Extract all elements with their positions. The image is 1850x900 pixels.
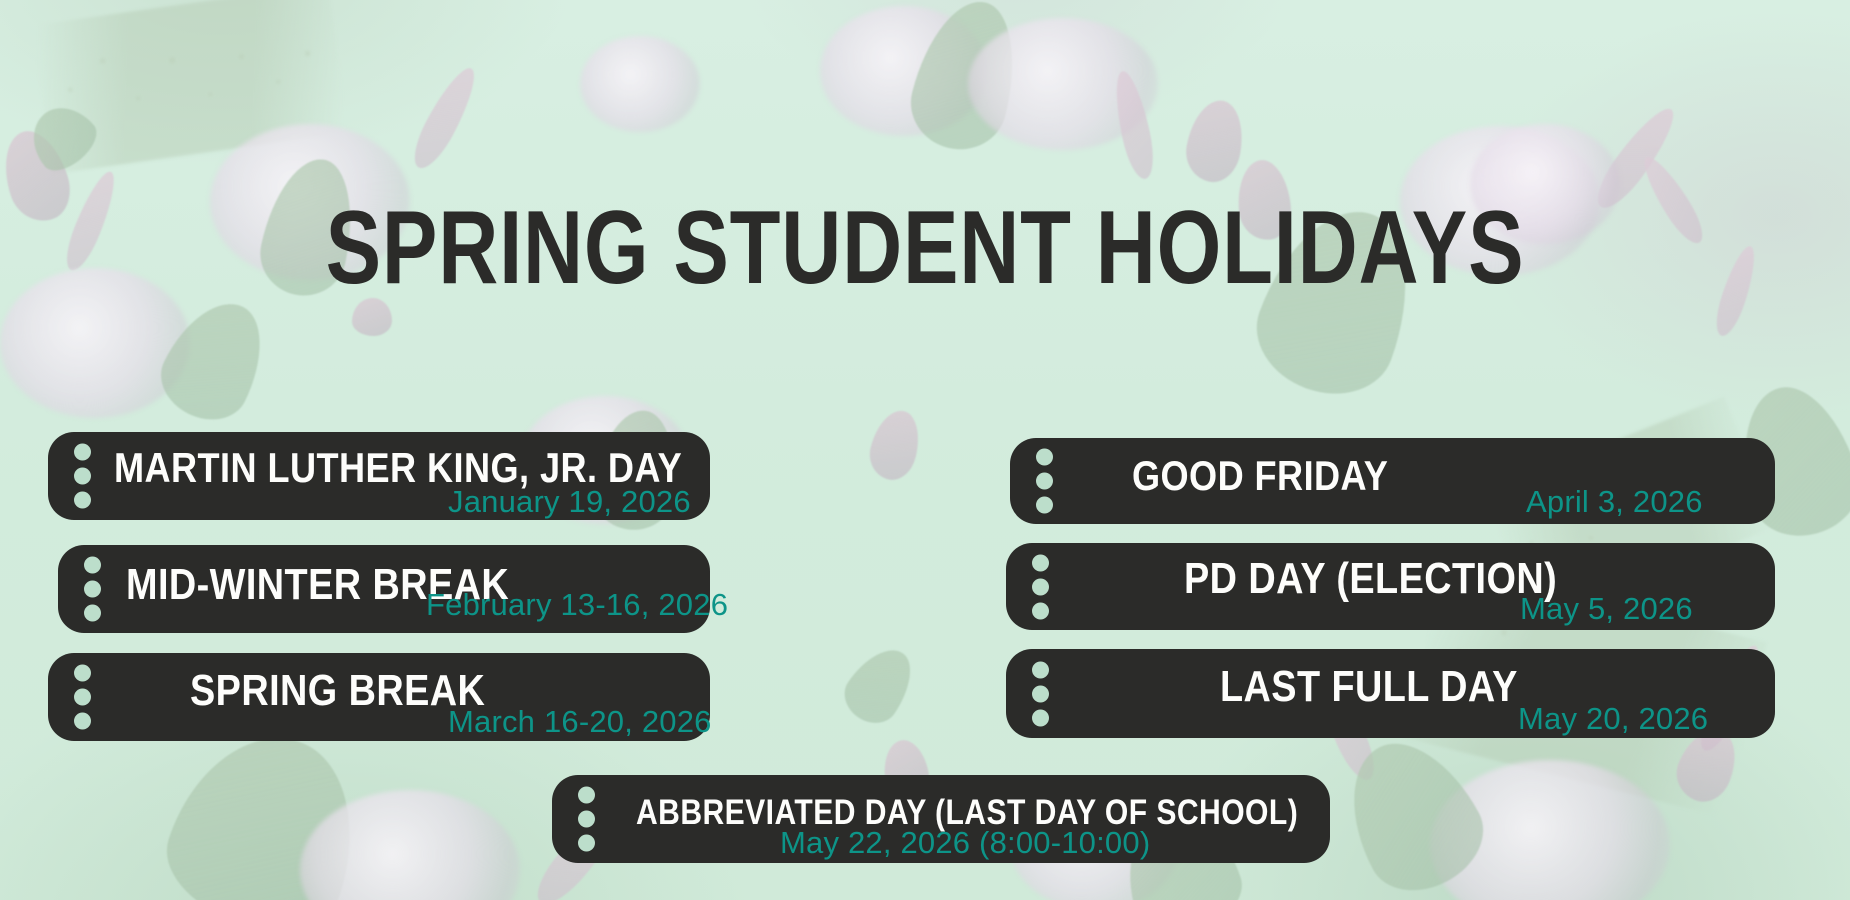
holiday-card-mlk[interactable]: MARTIN LUTHER KING, JR. DAY January 19, … <box>48 432 710 520</box>
three-dots-icon <box>578 787 595 852</box>
holiday-name: MARTIN LUTHER KING, JR. DAY <box>114 448 682 488</box>
three-dots-icon <box>74 665 91 730</box>
holiday-name: LAST FULL DAY <box>1220 667 1518 707</box>
three-dots-icon <box>1032 554 1049 619</box>
holiday-date: January 19, 2026 <box>448 486 691 517</box>
holiday-card-last-full-day[interactable]: LAST FULL DAY May 20, 2026 <box>1006 649 1775 738</box>
holiday-name: PD DAY (ELECTION) <box>1184 559 1557 599</box>
leaf-icon <box>148 286 281 433</box>
poster-root: SPRING STUDENT HOLIDAYS MARTIN LUTHER KI… <box>0 0 1850 900</box>
three-dots-icon <box>1036 449 1053 514</box>
card-inner: MARTIN LUTHER KING, JR. DAY January 19, … <box>48 432 710 520</box>
card-inner: GOOD FRIDAY April 3, 2026 <box>1010 438 1775 524</box>
holiday-name: SPRING BREAK <box>190 671 485 711</box>
carnation-bloom-icon <box>580 36 700 132</box>
card-inner: MID-WINTER BREAK February 13-16, 2026 <box>58 545 710 633</box>
card-inner: PD DAY (ELECTION) May 5, 2026 <box>1006 543 1775 630</box>
carnation-bloom-icon <box>0 268 190 418</box>
petal-icon <box>405 62 484 175</box>
leaf-icon <box>835 637 925 733</box>
leaf-icon <box>19 94 105 180</box>
holiday-date: May 5, 2026 <box>1520 593 1693 624</box>
holiday-date: March 16-20, 2026 <box>448 706 712 737</box>
carnation-bloom-icon <box>300 790 520 900</box>
petal-icon <box>1710 243 1762 340</box>
flower-bud-icon <box>1181 96 1248 186</box>
holiday-card-spring-break[interactable]: SPRING BREAK March 16-20, 2026 <box>48 653 710 741</box>
holiday-date: April 3, 2026 <box>1526 486 1703 517</box>
three-dots-icon <box>84 557 101 622</box>
three-dots-icon <box>74 444 91 509</box>
carnation-bloom-icon <box>968 18 1158 150</box>
holiday-date: February 13-16, 2026 <box>426 589 728 620</box>
holiday-date: May 20, 2026 <box>1518 703 1708 734</box>
carnation-bloom-icon <box>1430 760 1670 900</box>
card-inner: ABBREVIATED DAY (LAST DAY OF SCHOOL) May… <box>552 775 1330 863</box>
holiday-date: May 22, 2026 (8:00-10:00) <box>780 827 1150 858</box>
leaf-icon <box>1324 721 1500 900</box>
petal-icon <box>59 167 123 275</box>
baby-breath-spray-icon <box>31 0 349 174</box>
holiday-card-mid-winter-break[interactable]: MID-WINTER BREAK February 13-16, 2026 <box>58 545 710 633</box>
leaf-icon <box>901 0 1030 159</box>
holiday-card-pd-day-election[interactable]: PD DAY (ELECTION) May 5, 2026 <box>1006 543 1775 630</box>
card-inner: LAST FULL DAY May 20, 2026 <box>1006 649 1775 738</box>
carnation-bloom-icon <box>820 6 988 136</box>
flower-bud-icon <box>0 123 79 229</box>
card-inner: SPRING BREAK March 16-20, 2026 <box>48 653 710 741</box>
petal-icon <box>1109 68 1159 181</box>
holiday-card-good-friday[interactable]: GOOD FRIDAY April 3, 2026 <box>1010 438 1775 524</box>
holiday-card-abbreviated-day[interactable]: ABBREVIATED DAY (LAST DAY OF SCHOOL) May… <box>552 775 1330 863</box>
flower-bud-icon <box>864 405 926 484</box>
page-title: SPRING STUDENT HOLIDAYS <box>185 196 1665 300</box>
three-dots-icon <box>1032 661 1049 726</box>
holiday-name: GOOD FRIDAY <box>1132 456 1388 496</box>
